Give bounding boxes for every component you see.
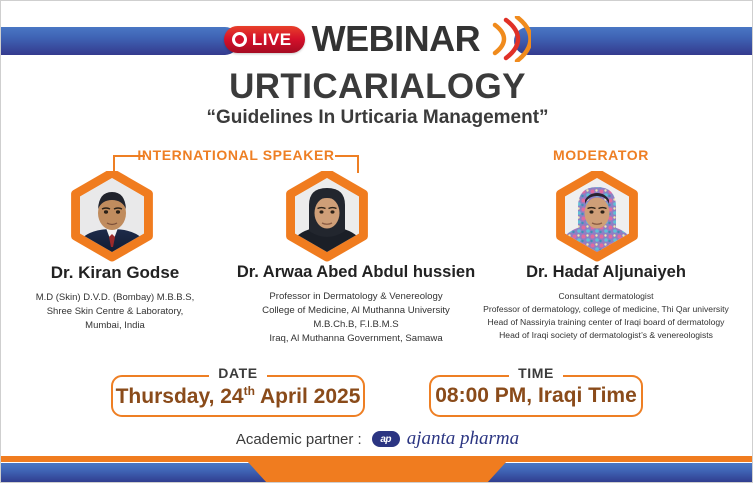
credential-line: Mumbai, India: [9, 319, 221, 333]
live-badge: LIVE: [224, 26, 305, 53]
speaker-credentials: Professor in Dermatology & Venereology C…: [223, 290, 489, 346]
credential-line: M.B.Ch.B, F.I.B.M.S: [223, 318, 489, 332]
international-speaker-bracket: INTERNATIONAL SPEAKER: [113, 147, 359, 169]
webinar-title-word: WEBINAR: [312, 21, 480, 57]
date-day: Thursday, 24: [116, 385, 244, 408]
date-rest: April 2025: [255, 385, 360, 408]
time-box: TIME 08:00 PM, Iraqi Time: [429, 375, 643, 417]
credential-line: Consultant dermatologist: [475, 290, 737, 303]
webinar-poster: LIVE WEBINAR URTICARIALOGY “Guidelines I…: [0, 0, 753, 483]
moderator-photo-hadaf-aljunaiyeh: [554, 171, 640, 265]
ajanta-pharma-logo: ap ajanta pharma: [372, 428, 519, 450]
credential-line: Iraq, Al Muthanna Government, Samawa: [223, 332, 489, 346]
live-badge-label: LIVE: [252, 31, 292, 48]
time-caption: TIME: [431, 365, 641, 383]
credential-line: Head of Nassiryia training center of Ira…: [475, 316, 737, 329]
moderator-label: MODERATOR: [511, 147, 691, 163]
moderator-block: Dr. Hadaf Aljunaiyeh Consultant dermatol…: [475, 263, 737, 342]
international-speaker-label: INTERNATIONAL SPEAKER: [113, 147, 359, 163]
credential-line: M.D (Skin) D.V.D. (Bombay) M.B.B.S,: [9, 291, 221, 305]
date-caption: DATE: [113, 365, 363, 383]
moderator-name: Dr. Hadaf Aljunaiyeh: [475, 263, 737, 282]
speaker-photo-arwaa-abed: [284, 171, 370, 265]
credential-line: Professor in Dermatology & Venereology: [223, 290, 489, 304]
bottom-orange-notch: [247, 461, 507, 483]
credential-line: Shree Skin Centre & Laboratory,: [9, 305, 221, 319]
ajanta-pharma-name: ajanta pharma: [407, 428, 519, 450]
moderator-credentials: Consultant dermatologist Professor of de…: [475, 290, 737, 342]
speaker-block-1: Dr. Kiran Godse M.D (Skin) D.V.D. (Bomba…: [9, 263, 221, 332]
academic-partner-label: Academic partner :: [236, 431, 362, 448]
speaker-name: Dr. Kiran Godse: [9, 263, 221, 283]
live-webinar-header: LIVE WEBINAR: [1, 13, 753, 65]
speaker-credentials: M.D (Skin) D.V.D. (Bombay) M.B.B.S, Shre…: [9, 291, 221, 332]
speaker-photo-kiran-godse: [69, 171, 155, 265]
date-caption-label: DATE: [209, 365, 266, 381]
speaker-block-2: Dr. Arwaa Abed Abdul hussien Professor i…: [223, 263, 489, 346]
date-ordinal: th: [244, 384, 255, 398]
credential-line: Head of Iraqi society of dermatologist’s…: [475, 329, 737, 342]
page-subtitle: “Guidelines In Urticaria Management”: [1, 107, 753, 129]
time-caption-label: TIME: [509, 365, 563, 381]
credential-line: College of Medicine, Al Muthanna Univers…: [223, 304, 489, 318]
broadcast-signal-icon: [487, 16, 531, 62]
date-value: Thursday, 24th April 2025: [116, 384, 361, 409]
time-value: 08:00 PM, Iraqi Time: [435, 384, 637, 408]
date-box: DATE Thursday, 24th April 2025: [111, 375, 365, 417]
page-title: URTICARIALOGY: [1, 67, 753, 107]
speaker-name: Dr. Arwaa Abed Abdul hussien: [223, 263, 489, 282]
academic-partner-row: Academic partner : ap ajanta pharma: [1, 428, 753, 450]
credential-line: Professor of dermatology, college of med…: [475, 303, 737, 316]
ajanta-logo-mark-icon: ap: [372, 431, 400, 447]
live-record-dot-icon: [232, 32, 247, 47]
